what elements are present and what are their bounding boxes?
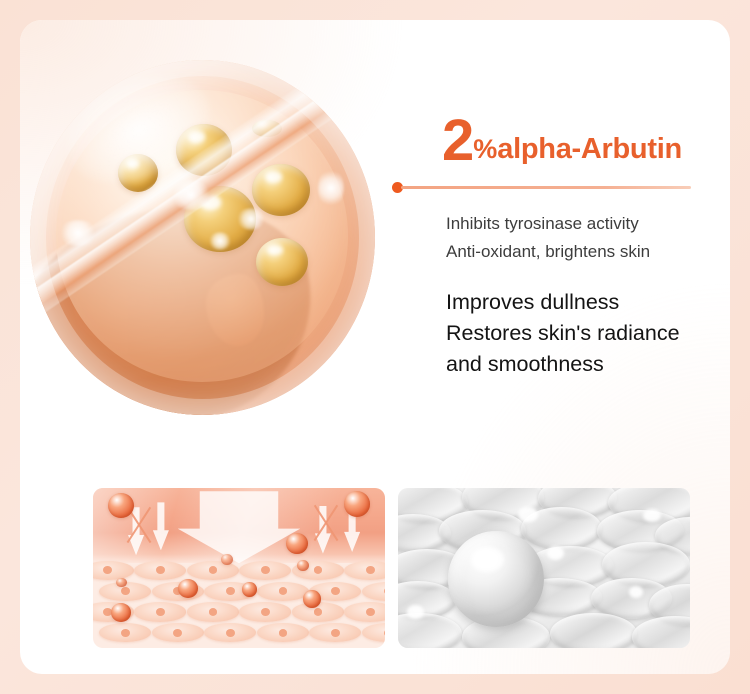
sphere-sparkle — [170, 180, 212, 210]
skin-cell — [93, 561, 134, 580]
sphere-sparkle — [58, 220, 98, 246]
skin-cell — [362, 582, 385, 601]
gel-highlight — [643, 509, 661, 522]
small-benefits-list: Inhibits tyrosinase activity Anti-oxidan… — [446, 210, 730, 265]
skin-cell — [204, 623, 256, 642]
gel-cell — [550, 613, 638, 648]
benefit-large-item: Improves dullness — [446, 287, 730, 318]
skin-cell — [99, 623, 151, 642]
skin-cell — [134, 602, 186, 621]
skin-cell — [257, 582, 309, 601]
cross-mark-icon — [309, 502, 341, 544]
skin-cell — [344, 561, 385, 580]
ingredient-name: alpha-Arbutin — [497, 133, 682, 165]
skin-cell — [152, 623, 204, 642]
benefit-small-item: Anti-oxidant, brightens skin — [446, 238, 730, 266]
divider-line — [401, 186, 691, 189]
skin-cell — [309, 623, 361, 642]
serum-droplet — [221, 554, 233, 565]
sphere-sparkle — [236, 208, 266, 230]
gel-highlight — [518, 507, 538, 521]
sphere-sparkle — [318, 168, 344, 208]
skin-cell — [239, 561, 291, 580]
percent-sign: % — [473, 134, 497, 164]
serum-droplet — [116, 578, 126, 588]
gel-droplet-large — [448, 531, 544, 627]
serum-droplet — [242, 582, 257, 596]
skin-cell — [187, 602, 239, 621]
white-content-panel: 2%alpha-Arbutin Inhibits tyrosinase acti… — [20, 20, 730, 674]
skin-cell — [362, 623, 385, 642]
divider — [392, 180, 730, 194]
skin-cell — [239, 602, 291, 621]
outer-peach-frame: 2%alpha-Arbutin Inhibits tyrosinase acti… — [0, 0, 750, 694]
hero-sphere-image — [20, 42, 385, 442]
cell-row — [99, 621, 385, 645]
skin-cell — [134, 561, 186, 580]
benefit-large-item: Restores skin's radiance — [446, 318, 730, 349]
serum-droplet — [344, 491, 370, 517]
sphere-sparkle — [208, 232, 232, 250]
serum-droplet — [286, 533, 308, 554]
serum-droplet — [108, 493, 134, 519]
large-benefits-list: Improves dullness Restores skin's radian… — [446, 287, 730, 381]
gold-bead — [256, 238, 308, 286]
benefit-large-item: and smoothness — [446, 349, 730, 380]
ingredient-copy-block: 2%alpha-Arbutin Inhibits tyrosinase acti… — [424, 112, 730, 381]
skin-cell — [344, 602, 385, 621]
percent-value: 2 — [442, 108, 473, 173]
benefit-small-item: Inhibits tyrosinase activity — [446, 210, 730, 238]
skin-cell — [257, 623, 309, 642]
gel-crystal-illustration — [398, 488, 690, 648]
skin-penetration-illustration — [93, 488, 385, 648]
serum-droplet — [303, 590, 321, 608]
headline: 2%alpha-Arbutin — [442, 112, 730, 170]
product-sphere — [30, 60, 375, 415]
gold-bead — [252, 164, 310, 216]
